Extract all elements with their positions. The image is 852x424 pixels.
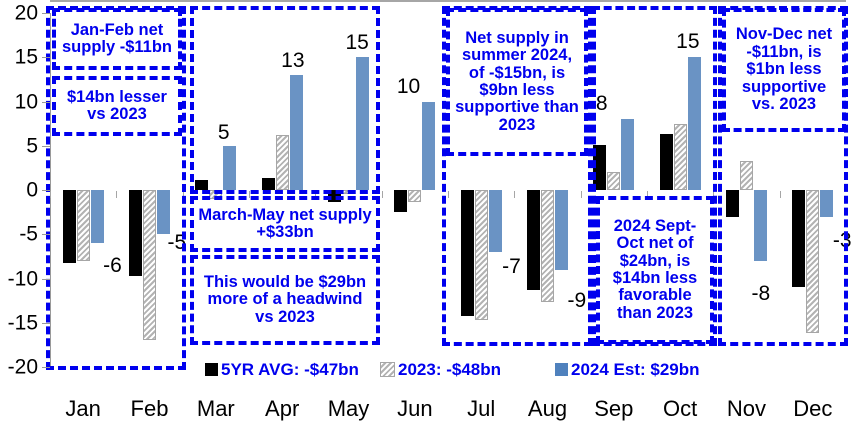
- y-axis-tick-label: 5: [26, 135, 38, 156]
- x-axis-label-nov: Nov: [713, 398, 779, 420]
- annotation-text: Net supply in summer 2024, of -$15bn, is…: [453, 30, 581, 135]
- y-axis-tick-label: 20: [15, 3, 38, 24]
- y-axis-tick-mark: [42, 234, 50, 235]
- net-supply-bar-chart: 20151050-5-10-15-20 JanFebMarAprMayJunJu…: [0, 0, 852, 424]
- x-axis-label-dec: Dec: [780, 398, 846, 420]
- y-axis-tick-mark: [42, 146, 50, 147]
- x-axis-label-jan: Jan: [50, 398, 116, 420]
- x-axis-label-sep: Sep: [581, 398, 647, 420]
- annotation-mar-may-group: [190, 6, 380, 194]
- x-axis-tick-mark: [382, 191, 383, 198]
- annotation-text: $14bn lesser vs 2023: [59, 89, 175, 124]
- y-axis-tick-label: -5: [19, 224, 38, 245]
- x-axis-label-may: May: [315, 398, 381, 420]
- legend-label-y2023: 2023: -$48bn: [398, 361, 501, 378]
- data-label-jun: 10: [397, 76, 420, 97]
- y-axis-tick-mark: [42, 13, 50, 14]
- y-axis-tick-label: -20: [8, 357, 38, 378]
- legend-item-y2024: 2024 Est: $29bn: [555, 361, 700, 378]
- y-axis-tick-label: 0: [26, 180, 38, 201]
- y-axis-tick-label: 10: [15, 91, 38, 112]
- annotation-text: Jan-Feb net supply -$11bn: [59, 22, 175, 57]
- y-axis-tick-label: -10: [8, 268, 38, 289]
- y-axis-tick-label: 15: [15, 47, 38, 68]
- y-axis: 20151050-5-10-15-20: [0, 0, 38, 424]
- legend-swatch-icon-y2024: [555, 363, 568, 376]
- annotation-jan-feb-lesser: $14bn lesser vs 2023: [52, 76, 182, 136]
- bar-jun-y2023: [408, 190, 421, 202]
- y-axis-tick-label: -15: [8, 312, 38, 333]
- x-axis-label-apr: Apr: [249, 398, 315, 420]
- annotation-mar-may-headwind: This would be $29bn more of a headwind v…: [190, 255, 380, 345]
- legend-label-avg: 5YR AVG: -$47bn: [221, 361, 359, 378]
- y-axis-tick-mark: [42, 102, 50, 103]
- x-axis-label-feb: Feb: [116, 398, 182, 420]
- legend-label-y2024: 2024 Est: $29bn: [571, 361, 700, 378]
- x-axis-label-oct: Oct: [647, 398, 713, 420]
- legend-swatch-icon-y2023: [380, 362, 395, 377]
- y-axis-tick-mark: [42, 279, 50, 280]
- bar-jun-y2024: [422, 102, 435, 191]
- annotation-mar-may-net: March-May net supply +$33bn: [190, 196, 380, 252]
- y-axis-tick-mark: [42, 323, 50, 324]
- annotation-jan-feb-net: Jan-Feb net supply -$11bn: [52, 8, 182, 70]
- annotation-nov-dec-net: Nov-Dec net -$11bn, is $1bn less support…: [722, 8, 846, 132]
- x-axis-label-jul: Jul: [448, 398, 514, 420]
- bar-jun-avg: [394, 190, 407, 212]
- y-axis-tick-mark: [42, 367, 50, 368]
- annotation-sep-oct-net: 2024 Sept-Oct net of $24bn, is $14bn les…: [596, 196, 714, 344]
- legend-item-y2023: 2023: -$48bn: [380, 361, 501, 378]
- y-axis-tick-mark: [42, 190, 50, 191]
- annotation-text: March-May net supply +$33bn: [197, 207, 373, 242]
- annotation-text: Nov-Dec net -$11bn, is $1bn less support…: [729, 26, 839, 113]
- x-axis-label-jun: Jun: [382, 398, 448, 420]
- x-axis-label-aug: Aug: [514, 398, 580, 420]
- annotation-summer-net: Net supply in summer 2024, of -$15bn, is…: [446, 8, 588, 156]
- x-axis-label-mar: Mar: [183, 398, 249, 420]
- annotation-text: This would be $29bn more of a headwind v…: [197, 274, 373, 326]
- legend-item-avg: 5YR AVG: -$47bn: [205, 361, 359, 378]
- annotation-text: 2024 Sept-Oct net of $24bn, is $14bn les…: [603, 218, 707, 323]
- zero-baseline: [50, 0, 846, 2]
- legend-swatch-icon-avg: [205, 363, 218, 376]
- y-axis-tick-mark: [42, 57, 50, 58]
